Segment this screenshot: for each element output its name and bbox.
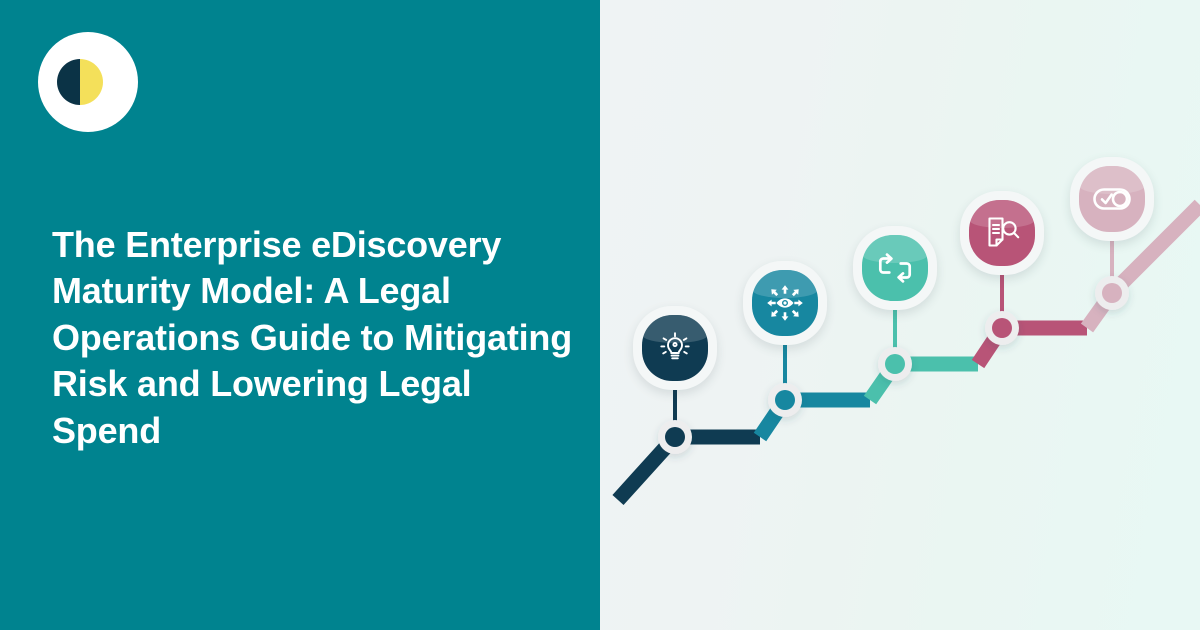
circle-split-logo-icon	[38, 32, 138, 132]
node-dot-3	[885, 354, 905, 374]
page-title: The Enterprise eDiscovery Maturity Model…	[52, 222, 572, 454]
node-dot-2	[775, 390, 795, 410]
node-dot-5	[1102, 283, 1122, 303]
brand-logo	[38, 32, 138, 132]
node-dot-1	[665, 427, 685, 447]
node-dot-4	[992, 318, 1012, 338]
repeat-loop-icon	[876, 252, 914, 284]
document-search-icon	[983, 214, 1021, 252]
toggle-check-icon	[1092, 186, 1132, 212]
maturity-graphic-panel	[600, 0, 1200, 630]
eye-expand-arrows-icon	[765, 283, 805, 323]
og-image-canvas: The Enterprise eDiscovery Maturity Model…	[0, 0, 1200, 630]
lightbulb-icon	[657, 330, 693, 366]
left-brand-panel: The Enterprise eDiscovery Maturity Model…	[0, 0, 600, 630]
